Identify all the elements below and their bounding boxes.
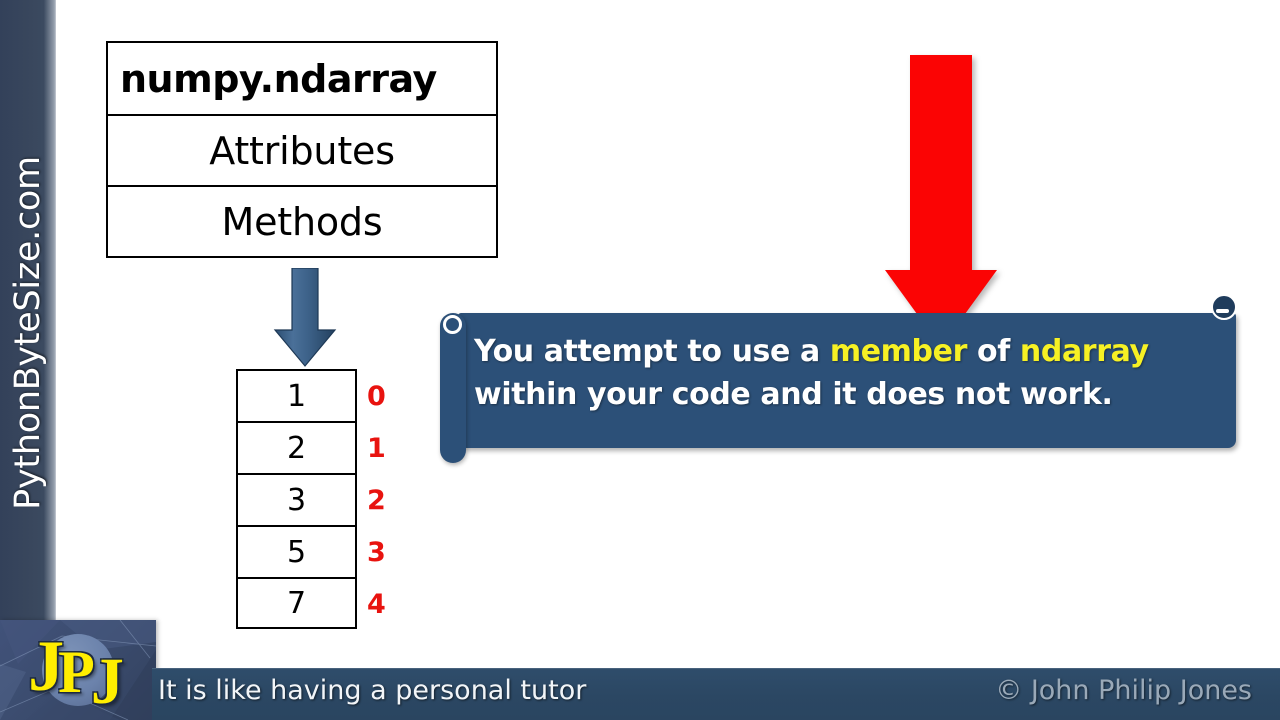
array-row: 7 4: [236, 577, 357, 629]
footer-bar: It is like having a personal tutor © Joh…: [152, 668, 1280, 720]
array-row: 1 0: [236, 369, 357, 421]
class-attributes-row: Attributes: [108, 114, 496, 185]
class-title-row: numpy.ndarray: [108, 43, 496, 114]
class-methods-row: Methods: [108, 185, 496, 256]
logo-letter-2: P: [58, 638, 93, 707]
jpj-logo: J P J: [0, 620, 156, 720]
logo-letters: J P J: [0, 620, 156, 720]
class-attributes-label: Attributes: [108, 129, 496, 173]
logo-letter-3: J: [91, 644, 122, 720]
branding-sidebar: PythonByteSize.com: [0, 0, 56, 665]
array-cell-value: 2: [236, 421, 357, 473]
array-cell-value: 3: [236, 473, 357, 525]
class-title: numpy.ndarray: [108, 57, 496, 101]
callout-text-part2: of: [967, 334, 1020, 369]
array-cell-index: 0: [367, 381, 386, 412]
array-cell-index: 4: [367, 589, 386, 620]
array-cell-index: 2: [367, 485, 386, 516]
array-cell-value: 5: [236, 525, 357, 577]
array-diagram: 1 0 2 1 3 2 5 3 7 4: [236, 369, 357, 629]
array-cell-index: 3: [367, 537, 386, 568]
footer-copyright: © John Philip Jones: [995, 675, 1252, 706]
callout-text-part1: You attempt to use a: [474, 334, 830, 369]
array-row: 5 3: [236, 525, 357, 577]
callout-text-line2: within your code and it does not work.: [474, 377, 1113, 412]
ndarray-class-box: numpy.ndarray Attributes Methods: [106, 41, 498, 258]
class-methods-label: Methods: [108, 200, 496, 244]
array-cell-value: 1: [236, 369, 357, 421]
array-cell-value: 7: [236, 577, 357, 629]
scroll-curl-left-icon: [440, 313, 466, 463]
slide-canvas: PythonByteSize.com J P J numpy.n: [0, 0, 1280, 720]
array-cell-index: 1: [367, 433, 386, 464]
callout-highlight-ndarray: ndarray: [1020, 334, 1149, 369]
footer-tagline: It is like having a personal tutor: [158, 675, 586, 706]
scroll-curl-right-icon: [1211, 294, 1237, 320]
array-row: 3 2: [236, 473, 357, 525]
callout-text: You attempt to use a member of ndarray w…: [474, 330, 1204, 416]
array-row: 2 1: [236, 421, 357, 473]
blue-down-arrow-icon: [273, 268, 337, 368]
callout-banner: You attempt to use a member of ndarray w…: [440, 306, 1236, 461]
callout-highlight-member: member: [830, 334, 967, 369]
site-name-vertical: PythonByteSize.com: [8, 156, 48, 510]
